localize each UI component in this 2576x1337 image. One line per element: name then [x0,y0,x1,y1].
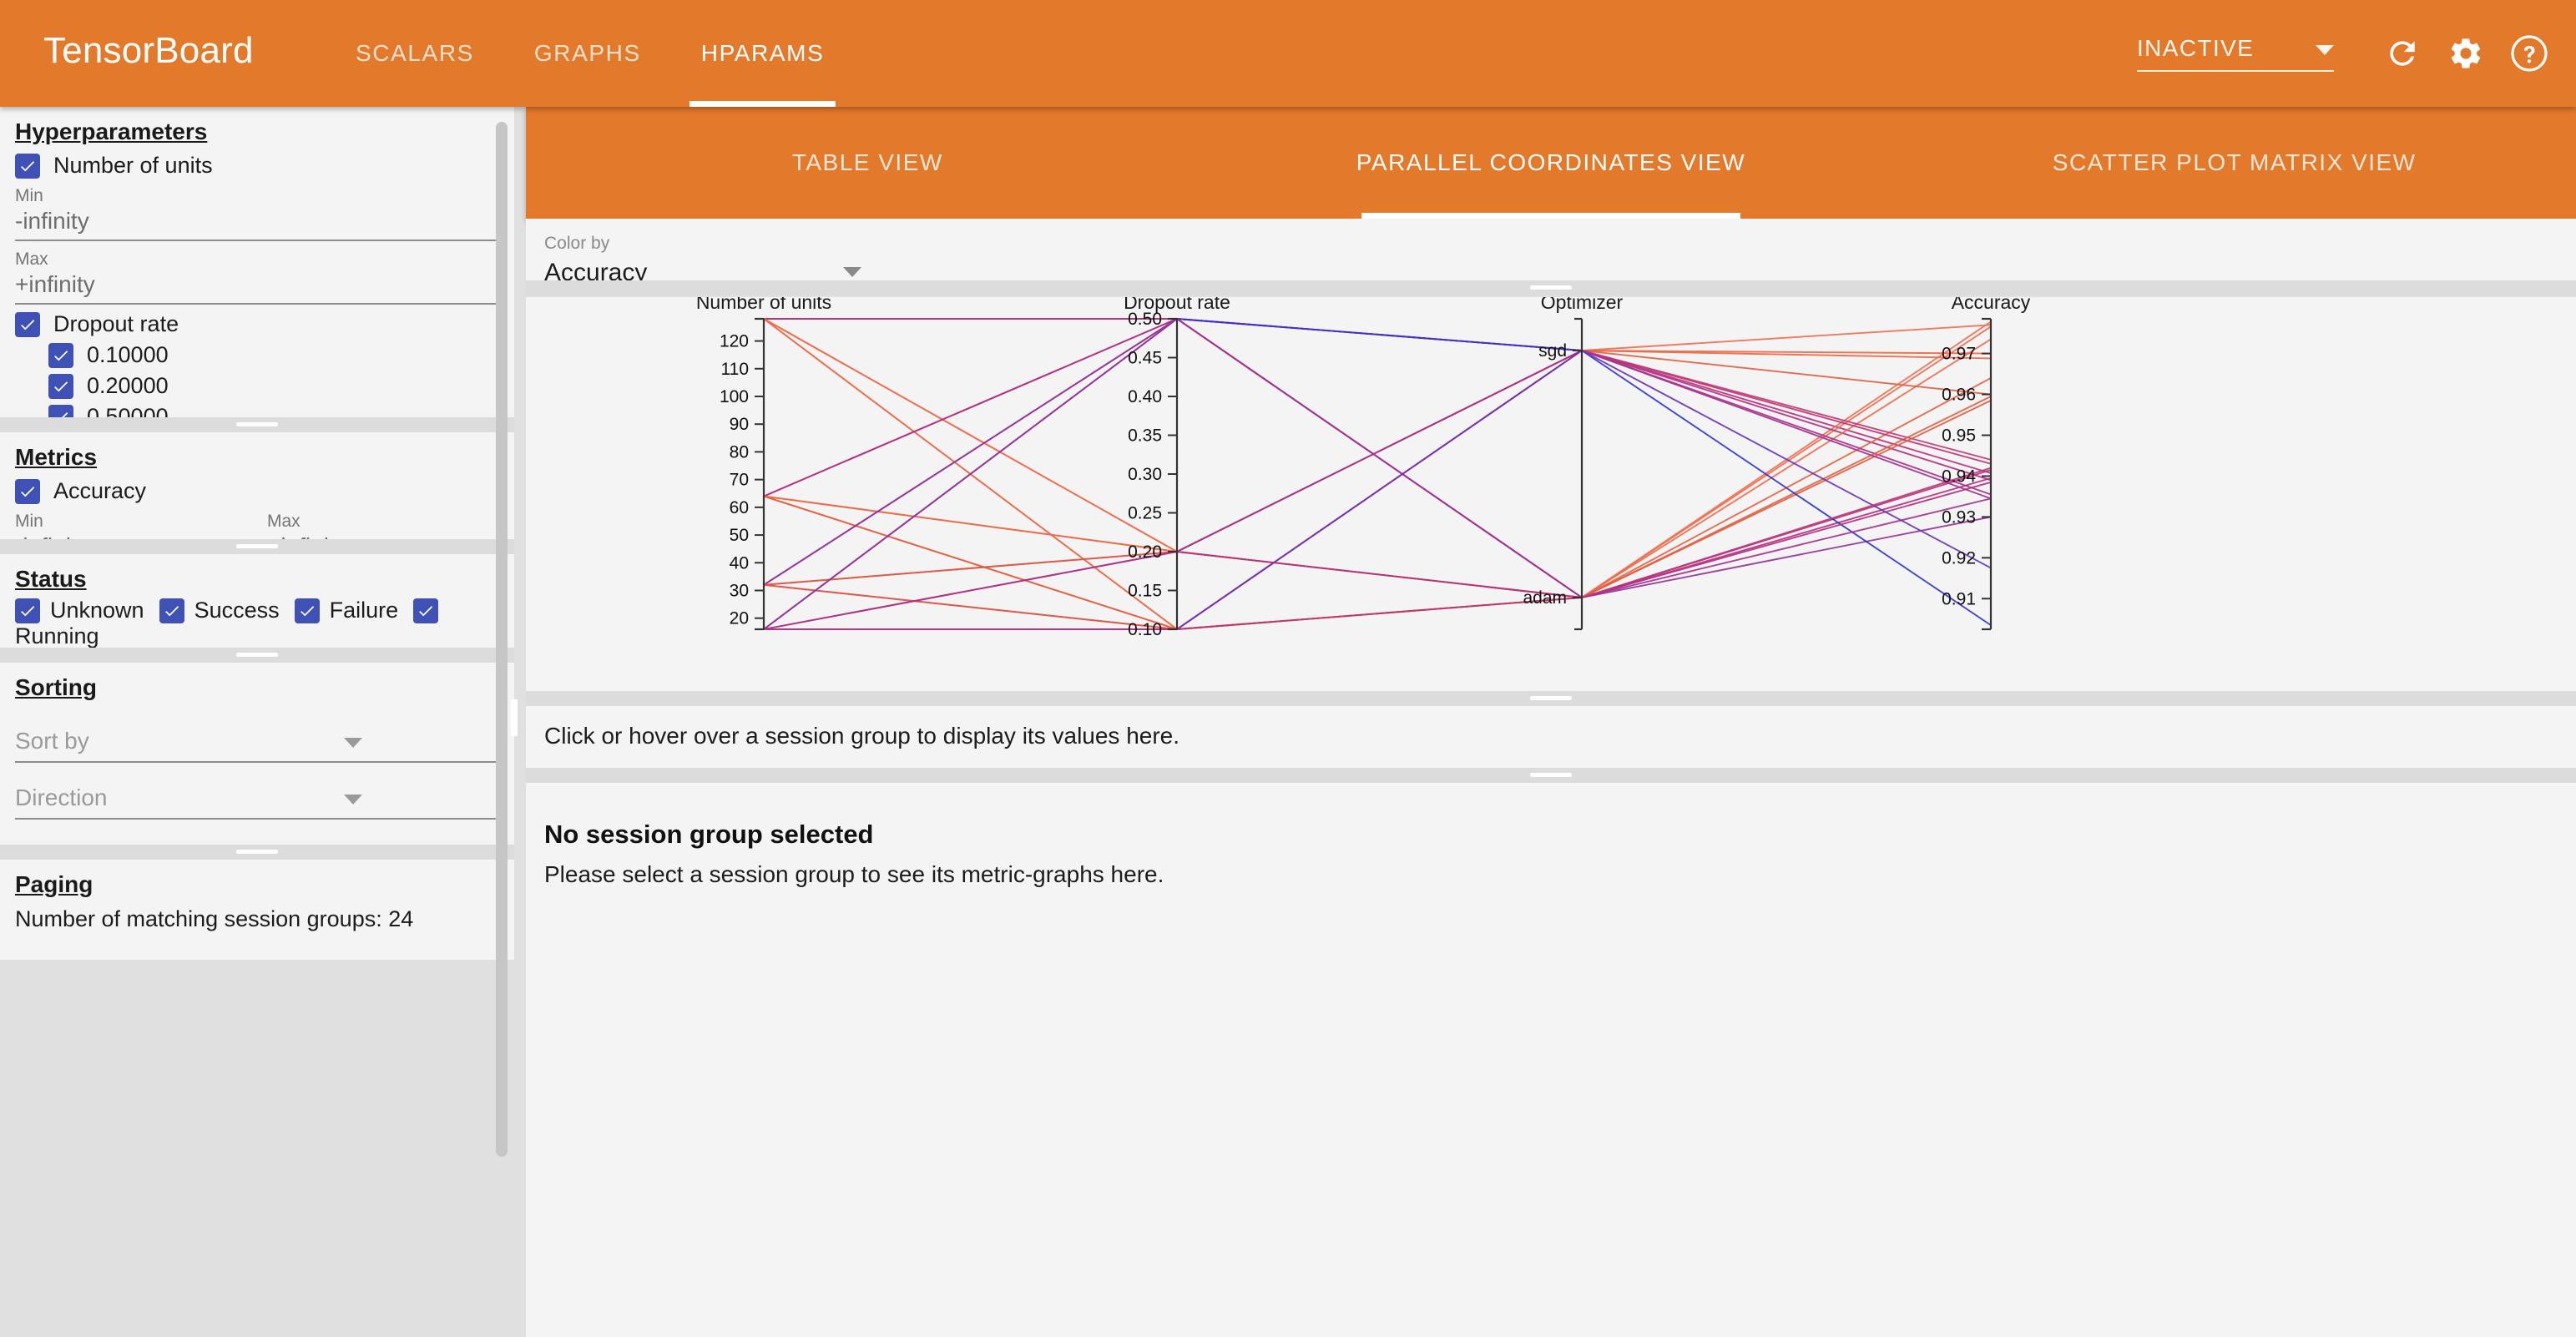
checkbox-label-dropout-0-2: 0.20000 [87,373,169,399]
chevron-down-icon [344,795,362,805]
session-group-subtitle: Please select a session group to see its… [526,850,2576,888]
session-group-line[interactable] [764,396,1991,598]
run-selector-value: INACTIVE [2137,35,2334,70]
panel-resize-grip-metrics[interactable] [0,539,514,554]
nav-tab-hparams[interactable]: HPARAMS [671,0,855,107]
sort-by-underline [15,761,496,763]
check-icon[interactable] [159,598,184,623]
checkbox-row-dropout-0-1[interactable]: 0.10000 [0,340,514,371]
axis-tick-label: 0.20 [1128,542,1162,562]
axis-title: Number of units [696,297,831,313]
metrics-title: Metrics [0,432,97,476]
units-max-underline [15,303,496,305]
checkbox-label-accuracy: Accuracy [53,478,146,504]
units-min-field[interactable]: Min -infinity [0,181,514,245]
units-max-value: +infinity [15,271,496,303]
axis-tick-label: 0.95 [1942,426,1976,446]
axis-tick-label: 90 [730,415,749,434]
tab-scatter-plot-matrix-view-label: SCATTER PLOT MATRIX VIEW [2053,149,2417,176]
sorting-card: Sorting Sort by Direction [0,663,514,845]
session-group-line[interactable] [764,351,1991,585]
run-selector-underline [2137,70,2334,72]
axis-tick-label: 0.15 [1128,582,1162,601]
checkbox-label-dropout-rate: Dropout rate [53,311,179,337]
axis-tick-label: 40 [730,553,749,573]
top-nav-tabs: SCALARS GRAPHS HPARAMS [326,0,854,107]
units-max-label: Max [15,250,496,270]
metrics-card: Metrics Accuracy Min -infinity Max +infi… [0,432,514,539]
checkbox-label-dropout-0-1: 0.10000 [87,342,169,368]
paging-card: Paging Number of matching session groups… [0,860,514,960]
tab-table-view-label: TABLE VIEW [792,149,943,176]
axis-tick-label: 0.97 [1942,345,1976,364]
axis-tick-label: 0.10 [1128,620,1162,639]
chevron-down-icon [344,738,362,748]
session-group-line[interactable] [764,339,1991,598]
axis-tick-label: 0.92 [1942,548,1976,568]
nav-tab-graphs-label: GRAPHS [534,40,641,67]
gear-icon[interactable] [2442,30,2489,77]
axis-title: Accuracy [1952,297,2031,313]
axis-tick-label: 110 [721,360,749,379]
check-icon[interactable] [15,312,40,337]
hyperparameters-card-2: Dropout rate 0.10000 0.20000 0.50000 Opt… [0,309,514,417]
session-group-line[interactable] [764,319,1991,629]
axis-tick-label: 120 [720,332,749,351]
app-brand: TensorBoard [43,30,254,72]
color-by-label: Color by [544,234,870,254]
tab-parallel-coordinates-view[interactable]: PARALLEL COORDINATES VIEW [1210,107,1893,219]
axis-tick-label: adam [1523,588,1567,608]
units-max-field[interactable]: Max +infinity [0,245,514,308]
session-group-line[interactable] [764,319,1991,629]
refresh-icon[interactable] [2379,30,2426,77]
checkbox-label-number-of-units: Number of units [53,153,213,179]
accuracy-max-label: Max [267,512,496,532]
axis-tick-label: 0.30 [1128,465,1162,484]
checkbox-row-dropout-0-2[interactable]: 0.20000 [0,371,514,401]
checkbox-row-dropout-rate[interactable]: Dropout rate [0,309,514,340]
help-icon[interactable] [2506,30,2553,77]
checkbox-row-number-of-units[interactable]: Number of units [0,150,514,181]
axis-tick-label: 20 [730,609,749,628]
parallel-coordinates-svg[interactable]: Number of units2030405060708090100110120… [526,297,2576,691]
accuracy-min-label: Min [15,512,244,532]
nav-tab-scalars[interactable]: SCALARS [326,0,504,107]
status-options: Unknown Success Failure Running [0,598,514,654]
axis-tick-label: 0.94 [1942,467,1976,486]
checkbox-label-status-unknown: Unknown [50,598,144,623]
check-icon[interactable] [15,154,40,179]
hyperparameters-card: Hyperparameters Number of units Min -inf… [0,107,514,309]
nav-tab-hparams-label: HPARAMS [701,40,825,67]
tab-scatter-plot-matrix-view[interactable]: SCATTER PLOT MATRIX VIEW [1892,107,2576,219]
check-icon[interactable] [48,343,73,368]
app-header: TensorBoard SCALARS GRAPHS HPARAMS INACT… [0,0,2576,107]
session-group-line[interactable] [764,319,1991,473]
session-group-line[interactable] [764,319,1991,629]
axis-tick-label: 30 [730,582,749,601]
chevron-down-icon [843,267,861,277]
panel-resize-grip-chart-bottom[interactable] [526,691,2576,706]
axis-tick-label: 0.91 [1942,589,1976,608]
status-title: Status [0,554,87,598]
hover-message-text: Click or hover over a session group to d… [526,706,2576,749]
check-icon[interactable] [295,598,320,623]
axis-tick-label: 0.35 [1128,426,1162,446]
axis-tick-label: 70 [730,471,749,490]
checkbox-label-status-running: Running [15,623,99,649]
tab-parallel-coordinates-view-label: PARALLEL COORDINATES VIEW [1356,149,1745,176]
panel-resize-grip-status[interactable] [0,648,514,663]
panel-resize-grip-hyperparameters[interactable] [0,417,514,432]
axis-tick-label: 0.40 [1128,387,1162,406]
direction-placeholder: Direction [15,785,496,818]
session-group-line[interactable] [764,319,1991,552]
chevron-down-icon [2316,45,2334,55]
panel-resize-grip-sorting[interactable] [0,845,514,860]
panel-resize-grip-message[interactable] [526,768,2576,783]
color-by-bar: Color by Accuracy [526,219,2576,280]
nav-tab-graphs[interactable]: GRAPHS [504,0,671,107]
checkbox-row-accuracy[interactable]: Accuracy [0,476,514,507]
paging-title: Paging [0,860,93,903]
axis-tick-label: 0.96 [1942,386,1976,405]
check-icon[interactable] [15,598,40,623]
session-group-panel: No session group selected Please select … [526,783,2576,1337]
checkbox-label-status-failure: Failure [330,598,399,623]
axis-tick-label: 0.25 [1128,504,1162,523]
axis-tick-label: sgd [1538,341,1567,361]
units-min-value: -infinity [15,208,496,240]
axis-tick-label: 0.50 [1128,310,1162,329]
nav-tab-scalars-label: SCALARS [356,40,474,67]
direction-underline [15,818,496,820]
sort-by-select[interactable]: Sort by [15,728,496,763]
sidebar-resize-handle[interactable] [511,699,518,736]
matching-session-groups-count: Number of matching session groups: 24 [0,903,514,944]
header-actions: INACTIVE [2137,0,2553,107]
checkbox-label-status-success: Success [194,598,280,623]
axis-title: Optimizer [1541,297,1624,313]
axis-tick-label: 100 [720,387,749,406]
check-icon[interactable] [413,598,438,623]
left-sidebar: Hyperparameters Number of units Min -inf… [0,107,514,1337]
sorting-title: Sorting [0,663,97,706]
check-icon[interactable] [15,479,40,504]
hyperparameters-title: Hyperparameters [0,107,207,150]
session-group-line[interactable] [764,378,1991,629]
main-content: TABLE VIEW PARALLEL COORDINATES VIEW SCA… [526,107,2576,1337]
check-icon[interactable] [48,374,73,399]
panel-resize-grip-chart-top[interactable] [526,280,2576,295]
axis-tick-label: 50 [730,526,749,545]
axis-tick-label: 60 [730,498,749,517]
sort-by-placeholder: Sort by [15,728,496,761]
axis-tick-label: 0.93 [1942,507,1976,527]
status-card: Status Unknown Success Failure Running [0,554,514,648]
axis-tick-label: 80 [730,442,749,462]
tab-table-view[interactable]: TABLE VIEW [526,107,1210,219]
session-group-title: No session group selected [526,783,2576,850]
hover-message-panel: Click or hover over a session group to d… [526,706,2576,768]
direction-select[interactable]: Direction [15,785,496,820]
view-tabs: TABLE VIEW PARALLEL COORDINATES VIEW SCA… [526,107,2576,219]
units-min-label: Min [15,186,496,206]
run-selector[interactable]: INACTIVE [2137,35,2334,72]
units-min-underline [15,240,496,241]
sidebar-scrollbar-thumb[interactable] [496,122,508,1157]
session-group-line[interactable] [764,319,1991,629]
parallel-coordinates-chart[interactable]: Number of units2030405060708090100110120… [526,297,2576,691]
axis-tick-label: 0.45 [1128,349,1162,368]
